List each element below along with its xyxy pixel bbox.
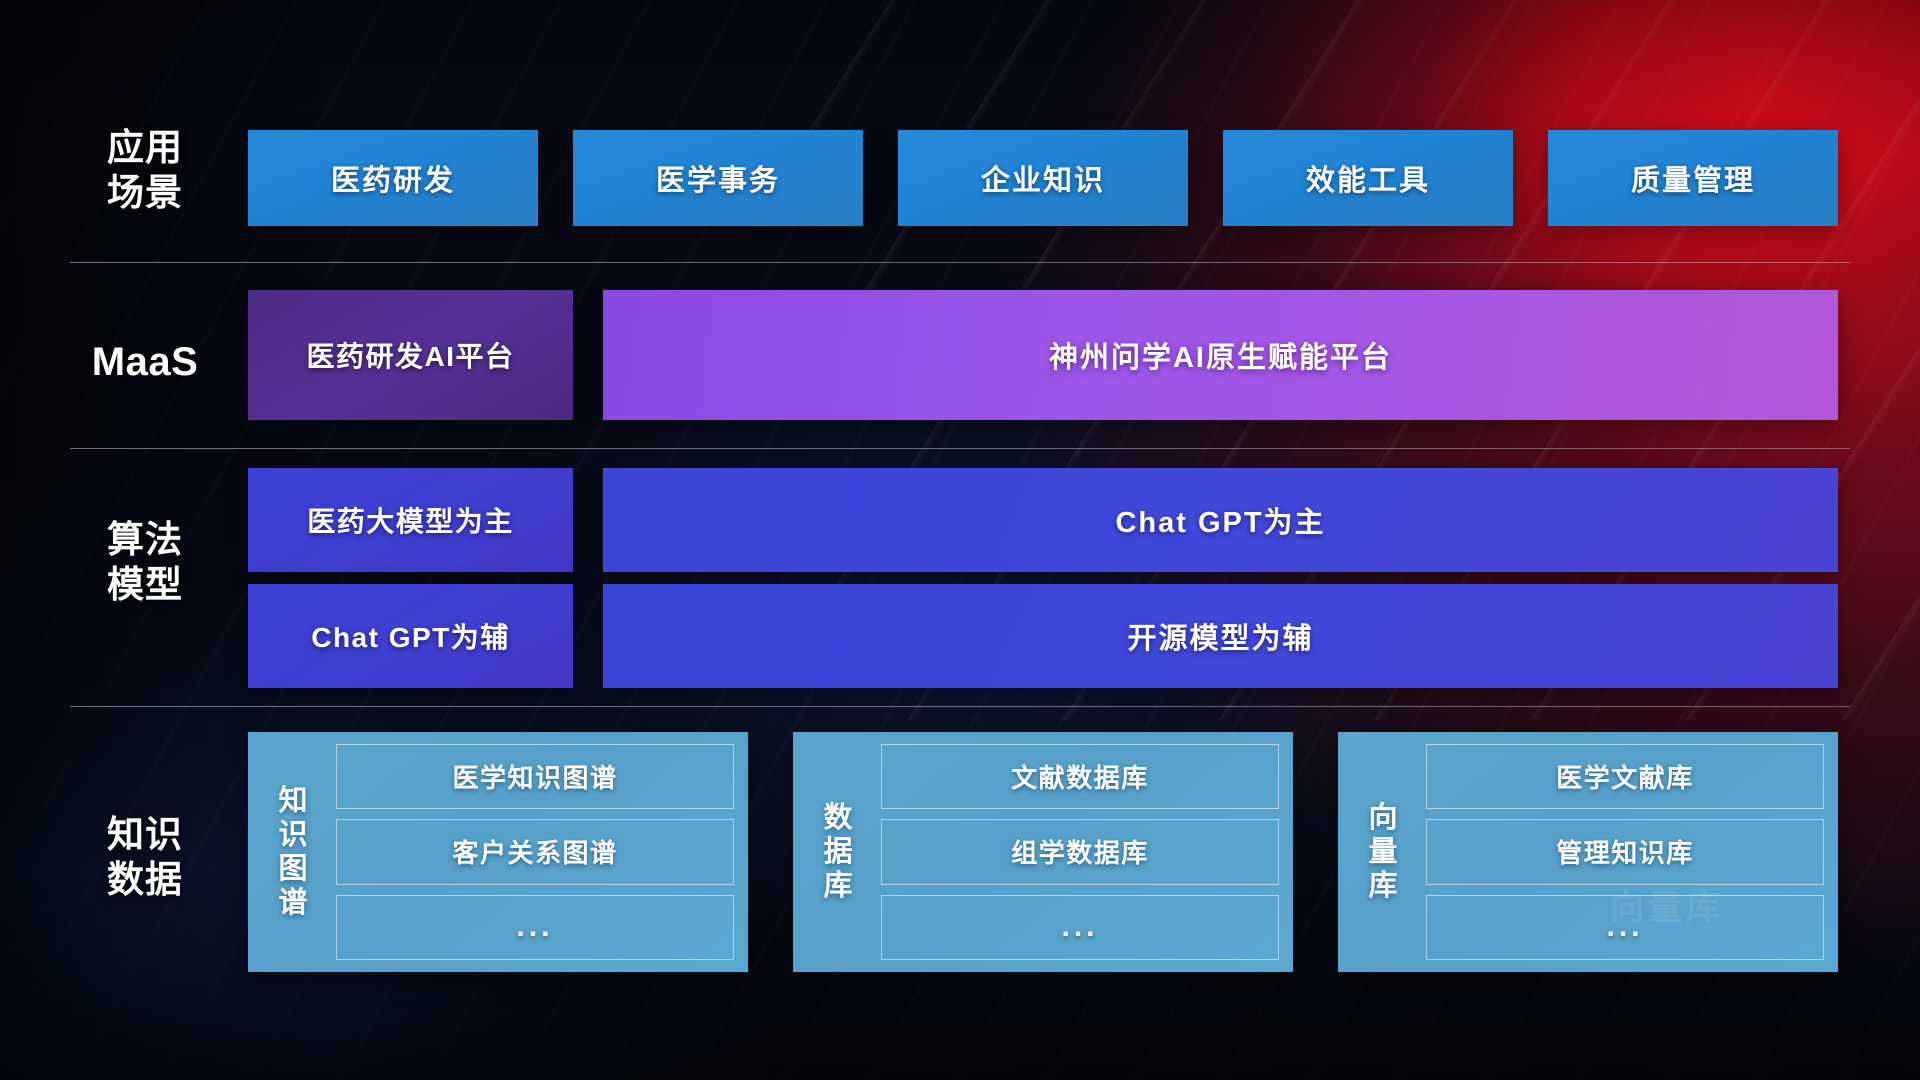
row-label-application-line-1: 应用 — [70, 125, 220, 170]
knowledge-panel-knowledge-graph[interactable]: 知 识 图 谱 医学知识图谱 客户关系图谱 ... — [248, 732, 748, 972]
row-label-knowledge-line-1: 知识 — [70, 812, 220, 857]
knowledge-panel-knowledge-graph-title-char-2: 识 — [278, 818, 307, 852]
knowledge-chip-more-1[interactable]: ... — [336, 895, 734, 960]
knowledge-panel-vector-store-items: 医学文献库 管理知识库 ... — [1426, 744, 1824, 960]
knowledge-panel-knowledge-graph-title-char-4: 谱 — [278, 886, 307, 920]
knowledge-panel-knowledge-graph-title: 知 识 图 谱 — [264, 784, 322, 921]
algo-box-chatgpt-primary[interactable]: Chat GPT为主 — [603, 468, 1838, 572]
knowledge-panel-vector-store-title-char-1: 向 — [1368, 801, 1397, 835]
knowledge-panel-vector-store-title-char-3: 库 — [1368, 869, 1397, 903]
row-label-maas: MaaS — [70, 338, 220, 387]
algo-box-pharma-llm-primary[interactable]: 医药大模型为主 — [248, 468, 573, 572]
row-label-algorithm-line-2: 模型 — [70, 562, 220, 607]
knowledge-panel-knowledge-graph-title-char-3: 图 — [278, 852, 307, 886]
knowledge-panel-knowledge-graph-items: 医学知识图谱 客户关系图谱 ... — [336, 744, 734, 960]
algo-box-chatgpt-primary-label: Chat GPT为主 — [1115, 499, 1325, 541]
algo-box-opensource-secondary[interactable]: 开源模型为辅 — [603, 584, 1838, 688]
app-box-enterprise-knowledge-label: 企业知识 — [981, 157, 1105, 199]
knowledge-chip-more-2[interactable]: ... — [881, 895, 1279, 960]
app-box-enterprise-knowledge[interactable]: 企业知识 — [898, 130, 1188, 226]
slide-canvas: 应用 场景 医药研发 医学事务 企业知识 效能工具 质量管理 MaaS 医药研发… — [0, 0, 1920, 1080]
divider-maas-algorithm — [70, 448, 1850, 449]
divider-algorithm-knowledge — [70, 706, 1850, 707]
algo-box-chatgpt-secondary-label: Chat GPT为辅 — [311, 616, 510, 656]
maas-box-shenzhou-platform-label: 神州问学AI原生赋能平台 — [1049, 334, 1392, 376]
knowledge-chip-medical-literature-store[interactable]: 医学文献库 — [1426, 744, 1824, 809]
knowledge-panel-database-items: 文献数据库 组学数据库 ... — [881, 744, 1279, 960]
knowledge-chip-customer-relation-graph[interactable]: 客户关系图谱 — [336, 819, 734, 884]
row-label-application: 应用 场景 — [70, 125, 220, 215]
knowledge-chip-more-3[interactable]: ... — [1426, 895, 1824, 960]
algo-box-opensource-secondary-label: 开源模型为辅 — [1127, 615, 1313, 657]
algo-box-chatgpt-secondary[interactable]: Chat GPT为辅 — [248, 584, 573, 688]
row-label-knowledge: 知识 数据 — [70, 812, 220, 902]
knowledge-chip-management-knowledge-store[interactable]: 管理知识库 — [1426, 819, 1824, 884]
app-box-pharma-rd[interactable]: 医药研发 — [248, 130, 538, 226]
knowledge-panel-database[interactable]: 数 据 库 文献数据库 组学数据库 ... — [793, 732, 1293, 972]
knowledge-panel-vector-store[interactable]: 向 量 库 医学文献库 管理知识库 ... — [1338, 732, 1838, 972]
algo-box-pharma-llm-primary-label: 医药大模型为主 — [307, 500, 514, 540]
knowledge-panel-database-title-char-2: 据 — [823, 835, 852, 869]
app-box-medical-affairs[interactable]: 医学事务 — [573, 130, 863, 226]
row-label-maas-line-1: MaaS — [70, 338, 220, 387]
knowledge-chip-omics-database[interactable]: 组学数据库 — [881, 819, 1279, 884]
knowledge-chip-medical-knowledge-graph[interactable]: 医学知识图谱 — [336, 744, 734, 809]
knowledge-panel-database-title-char-1: 数 — [823, 801, 852, 835]
row-label-knowledge-line-2: 数据 — [70, 857, 220, 902]
app-box-efficiency-tools[interactable]: 效能工具 — [1223, 130, 1513, 226]
knowledge-panel-database-title: 数 据 库 — [809, 801, 867, 904]
app-box-pharma-rd-label: 医药研发 — [331, 157, 455, 199]
app-box-quality-management[interactable]: 质量管理 — [1548, 130, 1838, 226]
maas-box-shenzhou-platform[interactable]: 神州问学AI原生赋能平台 — [603, 290, 1838, 420]
app-box-quality-management-label: 质量管理 — [1631, 157, 1755, 199]
maas-box-pharma-ai-platform[interactable]: 医药研发AI平台 — [248, 290, 573, 420]
row-label-algorithm: 算法 模型 — [70, 517, 220, 607]
knowledge-panel-vector-store-title-char-2: 量 — [1368, 835, 1397, 869]
diagram-content: 应用 场景 医药研发 医学事务 企业知识 效能工具 质量管理 MaaS 医药研发… — [0, 0, 1920, 1080]
app-box-medical-affairs-label: 医学事务 — [656, 157, 780, 199]
knowledge-panel-database-title-char-3: 库 — [823, 869, 852, 903]
divider-application-maas — [70, 262, 1850, 263]
knowledge-chip-literature-database[interactable]: 文献数据库 — [881, 744, 1279, 809]
knowledge-panel-vector-store-title: 向 量 库 — [1354, 801, 1412, 904]
app-box-efficiency-tools-label: 效能工具 — [1306, 157, 1430, 199]
row-label-application-line-2: 场景 — [70, 170, 220, 215]
row-label-algorithm-line-1: 算法 — [70, 517, 220, 562]
maas-box-pharma-ai-platform-label: 医药研发AI平台 — [306, 335, 514, 375]
knowledge-panel-knowledge-graph-title-char-1: 知 — [278, 784, 307, 818]
